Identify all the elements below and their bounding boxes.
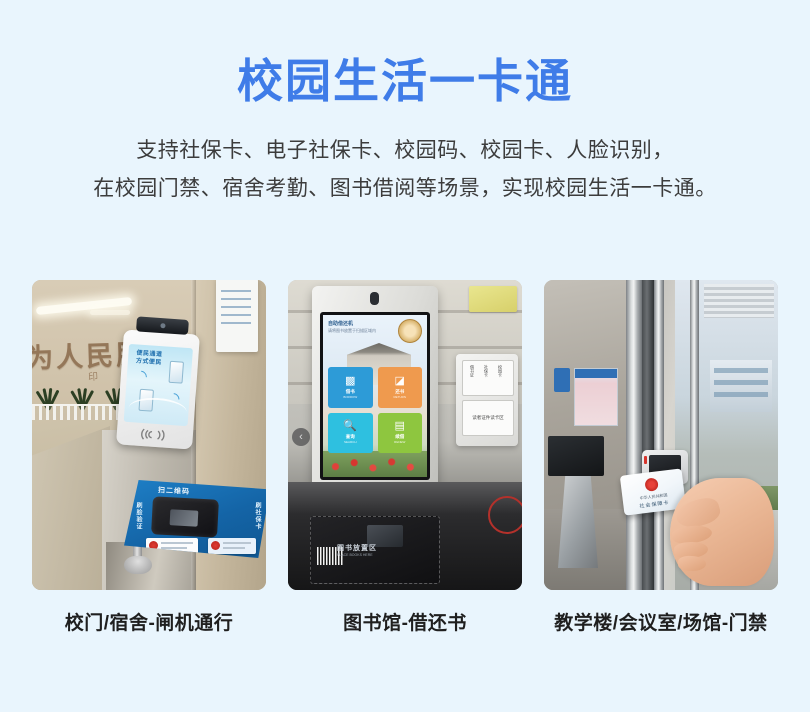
wall-poster — [574, 368, 618, 426]
finger-ring — [678, 556, 707, 572]
signal-wave-icon — [132, 368, 149, 385]
photo-gate-turnstile: 为人民服务 印 — [32, 280, 266, 590]
hand-holding-card — [670, 478, 774, 586]
panel-instruction-box: 借书证 社保卡 校园卡 — [462, 360, 514, 396]
page-subtitle: 支持社保卡、电子社保卡、校园码、校园卡、人脸识别， 在校园门禁、宿舍考勤、图书借… — [55, 132, 755, 208]
qr-scan-window[interactable] — [151, 496, 219, 537]
photo-door-access: 中华人民共和国 社会保障卡 — [544, 280, 778, 590]
wall-notice — [469, 286, 517, 312]
door-frame-dark — [640, 280, 654, 590]
camera-icon — [136, 316, 189, 335]
door-mullion-right — [654, 280, 664, 590]
panel-card-zone-label: 读者证件读卡区 — [472, 415, 504, 421]
tile-renew[interactable]: ▤ 续借 RENEW — [378, 413, 423, 454]
cable-coil — [488, 496, 522, 534]
library-seal-icon — [398, 319, 422, 343]
national-emblem-icon — [211, 541, 220, 550]
phone-icon — [168, 361, 184, 384]
scenario-card-gate[interactable]: 为人民服务 印 — [32, 280, 266, 635]
camera-icon — [370, 292, 379, 305]
gate-top-panel[interactable]: 扫二维码 刷脸验证 刷社保卡 — [124, 480, 266, 558]
borrow-icon: ▩ — [345, 376, 355, 387]
screen-header-subtitle: 请将图书放置于扫描区域内 — [328, 328, 376, 334]
scenario-card-door-access[interactable]: 中华人民共和国 社会保障卡 教学楼/会议室/场馆-门禁 — [544, 280, 778, 635]
tile-return-sublabel: RETURN — [394, 395, 407, 399]
tile-return[interactable]: ◪ 还书 RETURN — [378, 367, 423, 408]
panel-vtext-2: 社保卡 — [483, 365, 489, 377]
return-icon: ◪ — [395, 376, 405, 387]
book-placement-pad[interactable]: 图书放置区 PLACE BOOKS HERE — [310, 516, 440, 584]
scenario-card-library[interactable]: 自助借还机 请将图书放置于扫描区域内 ▩ 借书 BORROW — [288, 280, 522, 635]
subtitle-line-1: 支持社保卡、电子社保卡、校园码、校园卡、人脸识别， — [55, 132, 755, 170]
face-recognition-terminal[interactable]: 便民通道方式便民 — [116, 329, 200, 449]
self-service-kiosk[interactable]: 自助借还机 请将图书放置于扫描区域内 ▩ 借书 BORROW — [312, 286, 438, 494]
notice-paper — [216, 280, 258, 352]
panel-vtext-3: 校园卡 — [497, 365, 503, 377]
terminal-screen-title: 便民通道方式便民 — [136, 349, 163, 367]
page-root: 校园生活一卡通 支持社保卡、电子社保卡、校园码、校园卡、人脸识别， 在校园门禁、… — [0, 0, 810, 712]
card-sticker-right — [208, 538, 256, 554]
panel-card-zone[interactable]: 读者证件读卡区 — [462, 400, 514, 436]
gate-panel-left-label: 刷脸验证 — [134, 502, 143, 530]
tile-search-sublabel: SEARCH — [344, 440, 357, 444]
gate-panel-right-label: 刷社保卡 — [253, 502, 262, 530]
panel-vtext-1: 借书证 — [469, 365, 475, 377]
scenario-cards: 为人民服务 印 — [32, 280, 778, 635]
door-mullion-left — [626, 280, 642, 590]
terminal-base — [124, 556, 152, 574]
wayfinding-sign — [554, 368, 570, 392]
card-caption-gate: 校门/宿舍-闸机通行 — [32, 608, 266, 635]
tile-search[interactable]: 🔍 查询 SEARCH — [328, 413, 373, 454]
pad-sublabel: PLACE BOOKS HERE — [337, 553, 373, 557]
status-led-icon — [644, 456, 647, 464]
poster-header — [575, 369, 617, 378]
exterior-building — [710, 360, 772, 412]
renew-icon: ▤ — [395, 421, 405, 432]
back-arrow-icon[interactable]: ‹ — [292, 428, 310, 446]
page-title: 校园生活一卡通 — [0, 52, 810, 110]
card-reader-panel[interactable]: 借书证 社保卡 校园卡 读者证件读卡区 — [456, 354, 518, 446]
card-caption-library: 图书馆-借还书 — [288, 608, 522, 635]
kiosk-screen[interactable]: 自助借还机 请将图书放置于扫描区域内 ▩ 借书 BORROW — [323, 315, 427, 477]
terminal-screen[interactable]: 便民通道方式便民 — [124, 344, 193, 426]
header-section: 校园生活一卡通 支持社保卡、电子社保卡、校园码、校园卡、人脸识别， 在校园门禁、… — [0, 0, 810, 208]
nfc-icon — [140, 427, 165, 443]
pad-label: 图书放置区 — [337, 543, 377, 553]
tile-renew-sublabel: RENEW — [394, 440, 405, 444]
ceiling-louvers — [704, 284, 774, 318]
flower-bed-illustration — [323, 451, 427, 477]
search-icon: 🔍 — [343, 421, 357, 432]
national-emblem-icon — [644, 477, 658, 491]
subtitle-line-2: 在校园门禁、宿舍考勤、图书借阅等场景，实现校园生活一卡通。 — [55, 170, 755, 208]
card-caption-door-access: 教学楼/会议室/场馆-门禁 — [544, 608, 778, 635]
reception-counter — [548, 436, 604, 476]
tile-borrow-sublabel: BORROW — [343, 395, 357, 399]
gate-panel-title: 扫二维码 — [158, 485, 190, 497]
kiosk-screen-frame: 自助借还机 请将图书放置于扫描区域内 ▩ 借书 BORROW — [320, 312, 430, 480]
ceiling-light-secondary-icon — [90, 310, 130, 315]
photo-library-kiosk: 自助借还机 请将图书放置于扫描区域内 ▩ 借书 BORROW — [288, 280, 522, 590]
screen-header-title: 自助借还机 — [328, 320, 353, 327]
tile-borrow[interactable]: ▩ 借书 BORROW — [328, 367, 373, 408]
kiosk-menu-tiles: ▩ 借书 BORROW ◪ 还书 RETURN — [328, 367, 422, 453]
